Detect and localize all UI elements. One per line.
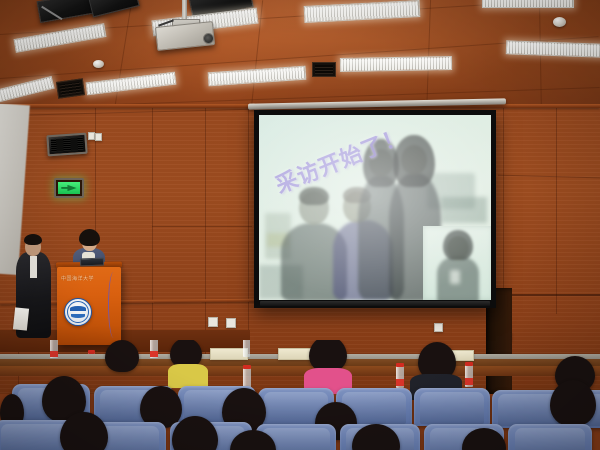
- wall-seam: [248, 104, 249, 364]
- host-papers: [13, 307, 29, 330]
- projection-screen: 采访开始了！: [259, 115, 491, 300]
- emblem-ring: [67, 301, 89, 323]
- wall-plate: [208, 317, 218, 327]
- wall-plate: [95, 133, 102, 141]
- wall-seam: [512, 294, 600, 296]
- ceiling-vent: [312, 62, 336, 77]
- bottle-cap: [465, 362, 473, 366]
- desk-front-panel: [0, 366, 600, 376]
- vent-louvers: [315, 65, 333, 74]
- ceiling-light: [482, 0, 574, 8]
- pip-inset: [423, 226, 491, 300]
- name-card: [278, 348, 312, 360]
- water-bottle: [243, 340, 250, 357]
- host-hair: [24, 234, 42, 245]
- projection-screen-frame: 采访开始了！: [254, 110, 496, 308]
- wall-seam: [152, 104, 153, 354]
- emblem-arc: [70, 306, 86, 311]
- attendee-torso: [168, 364, 208, 388]
- bottle-label: [396, 379, 404, 386]
- smoke-detector-icon: [93, 60, 104, 68]
- wall-speaker-icon: [46, 133, 87, 157]
- auditorium-seat: [508, 424, 592, 450]
- exit-sign-face: [58, 182, 80, 194]
- wall-plate: [88, 132, 95, 140]
- speaker-grille: [51, 137, 84, 152]
- audience-seating: [0, 340, 600, 450]
- wall-seam: [556, 104, 557, 314]
- pip-person-hair: [443, 230, 473, 260]
- presenter-hair: [79, 229, 100, 246]
- wall-seam: [503, 104, 504, 304]
- bottle-cap: [396, 363, 404, 367]
- ceiling-shading: [0, 0, 600, 118]
- projected-background-object: [441, 197, 487, 223]
- bottle-label: [150, 351, 158, 357]
- ceiling: [0, 0, 600, 118]
- vent-louvers: [59, 82, 81, 96]
- ceiling-light: [340, 56, 452, 72]
- host-shirt: [30, 256, 37, 278]
- bottle-label: [50, 351, 58, 357]
- wall-plate: [226, 318, 236, 328]
- attendee-head: [550, 380, 596, 426]
- wall-seam: [205, 104, 206, 354]
- pip-microphone-icon: [450, 270, 460, 284]
- wall-plate: [434, 323, 443, 332]
- university-emblem: [64, 298, 92, 326]
- projector-lens: [203, 33, 214, 44]
- emblem-wave: [71, 314, 85, 318]
- lectern-banner-text: 中国海洋大学: [61, 275, 94, 282]
- exit-sign: [54, 178, 84, 198]
- wall-seam: [152, 226, 252, 227]
- laptop: [80, 258, 104, 267]
- bottle-cap: [243, 365, 251, 369]
- auditorium-seat: [414, 388, 490, 426]
- auditorium-photo: 采访开始了！ 中国海洋大学: [0, 0, 600, 450]
- smoke-detector-icon: [553, 17, 566, 27]
- microphone-cable: [108, 272, 119, 338]
- attendee-head: [105, 340, 139, 372]
- exit-arrow-icon: [61, 185, 76, 191]
- bottle-label: [465, 378, 473, 385]
- water-bottle: [243, 368, 251, 388]
- screen-bottom-bar: [260, 301, 490, 306]
